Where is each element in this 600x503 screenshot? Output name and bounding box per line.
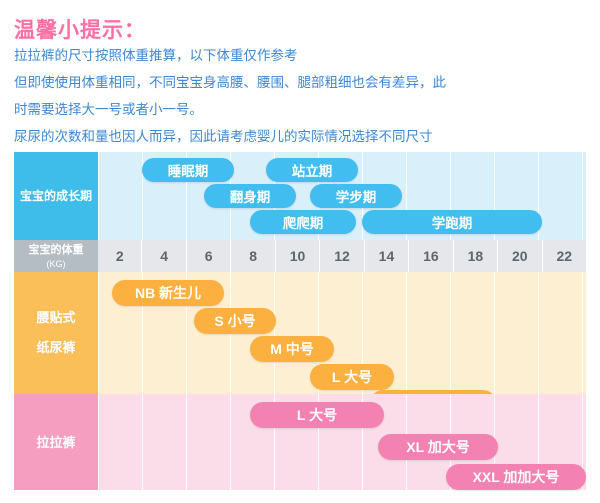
growth-stage-pill: 翻身期 <box>204 184 296 208</box>
row-label-weight-unit: (KG) <box>47 259 66 270</box>
row-label-weight-main: 宝宝的体重 <box>29 242 84 259</box>
growth-stage-row: 宝宝的成长期 睡眠期 站立期 翻身期 学步期 爬爬期 学跑期 <box>14 152 586 240</box>
weight-values: 2 4 6 8 10 12 14 16 18 20 22 <box>98 240 586 272</box>
growth-stage-pill: 学步期 <box>310 184 402 208</box>
size-guide-page: 温馨小提示： 拉拉裤的尺寸按照体重推算，以下体重仅作参考 但即使使用体重相同，不… <box>0 0 600 503</box>
tips-line: 时需要选择大一号或者小一号。 <box>14 98 590 121</box>
growth-stage-pill: 学跑期 <box>362 210 542 234</box>
tips-line: 但即使使用体重相同，不同宝宝身高腰、腰围、腿部粗细也会有差异，此 <box>14 71 590 94</box>
pull-size-pill: XL 加大号 <box>378 434 498 460</box>
weight-cell: 2 <box>98 240 141 272</box>
tape-size-pill: NB 新生儿 <box>112 280 224 306</box>
weight-cell: 20 <box>497 240 541 272</box>
tape-size-pill: S 小号 <box>194 308 276 334</box>
weight-cell: 16 <box>408 240 452 272</box>
weight-cell: 14 <box>364 240 408 272</box>
tips-line: 拉拉裤的尺寸按照体重推算，以下体重仅作参考 <box>14 44 590 67</box>
row-label-pull: 拉拉裤 <box>14 394 98 490</box>
tape-diaper-row: 腰贴式 纸尿裤 NB 新生儿 S 小号 M 中号 L 大号 XL 加大号 <box>14 272 586 394</box>
row-label-tape: 腰贴式 纸尿裤 <box>14 272 98 394</box>
row-label-weight: 宝宝的体重 (KG) <box>14 240 98 272</box>
weight-cell: 10 <box>275 240 319 272</box>
row-label-tape-line1: 腰贴式 <box>36 303 75 333</box>
tape-size-pill: M 中号 <box>250 336 334 362</box>
pull-up-diaper-row: 拉拉裤 L 大号 XL 加大号 XXL 加加大号 <box>14 394 586 490</box>
weight-cell: 18 <box>453 240 497 272</box>
tape-size-pill: L 大号 <box>310 364 394 390</box>
size-chart-table: 宝宝的成长期 睡眠期 站立期 翻身期 学步期 爬爬期 学跑期 宝宝的体重 (KG… <box>14 152 586 490</box>
growth-stage-pill: 站立期 <box>266 158 358 182</box>
growth-stage-pill: 爬爬期 <box>250 210 356 234</box>
growth-stage-pill: 睡眠期 <box>142 158 234 182</box>
weight-cell: 12 <box>319 240 363 272</box>
pull-size-pill: XXL 加加大号 <box>446 464 586 490</box>
weight-row: 宝宝的体重 (KG) 2 4 6 8 10 12 14 16 18 20 22 <box>14 240 586 272</box>
pull-size-pill: L 大号 <box>250 402 384 428</box>
tips-line: 尿尿的次数和量也因人而异，因此请考虑婴儿的实际情况选择不同尺寸 <box>14 125 590 148</box>
row-label-growth: 宝宝的成长期 <box>14 152 98 240</box>
weight-cell: 8 <box>230 240 274 272</box>
row-label-tape-line2: 纸尿裤 <box>36 333 75 363</box>
weight-cell: 4 <box>141 240 185 272</box>
weight-cell: 22 <box>542 240 586 272</box>
tips-list: 拉拉裤的尺寸按照体重推算，以下体重仅作参考 但即使使用体重相同，不同宝宝身高腰、… <box>14 44 590 152</box>
page-title: 温馨小提示： <box>14 14 146 44</box>
weight-cell: 6 <box>186 240 230 272</box>
